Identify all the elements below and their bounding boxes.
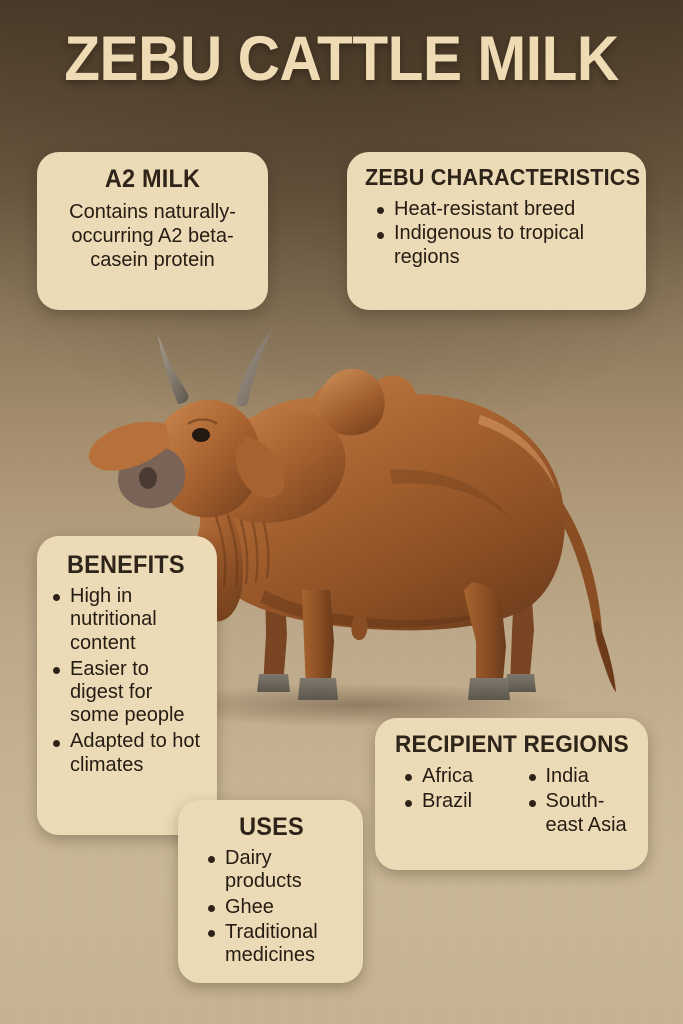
tail-tuft [594,620,616,692]
card-a2-milk-body: Contains naturally-occurring A2 beta-cas… [53,200,252,272]
card-benefits-list: High in nutritional content Easier to di… [51,585,205,777]
card-a2-milk: A2 MILK Contains naturally-occurring A2 … [37,152,268,310]
list-item: Traditional medicines [206,921,351,967]
hoof-hind-near [468,678,510,700]
list-item: India [527,765,637,788]
list-item: Easier to digest for some people [51,658,205,728]
card-recipient-regions-list-right: India South-east Asia [527,765,637,839]
page-title: ZEBU CATTLE MILK [24,28,659,91]
card-recipient-regions-title: RECIPIENT REGIONS [395,732,622,757]
eye [192,428,210,442]
card-zebu-characteristics-title: ZEBU CHARACTERISTICS [365,165,616,189]
list-item: Dairy products [206,847,351,893]
card-recipient-regions-list-left: Africa Brazil [403,765,513,839]
hoof-hind-far [505,674,536,692]
card-uses-list: Dairy products Ghee Traditional medicine… [206,847,351,967]
infographic-poster: A2 MILK Contains naturally-occurring A2 … [0,0,683,1024]
list-item: Ghee [206,896,351,919]
hoof-front-near [298,678,338,700]
list-item: Brazil [403,790,513,813]
card-zebu-characteristics-list: Heat-resistant breed Indigenous to tropi… [375,198,632,269]
card-zebu-characteristics: ZEBU CHARACTERISTICS Heat-resistant bree… [347,152,646,310]
card-recipient-regions-columns: Africa Brazil India South-east Asia [403,765,636,839]
card-a2-milk-title: A2 MILK [59,166,246,192]
list-item: Adapted to hot climates [51,730,205,776]
list-item: High in nutritional content [51,585,205,655]
list-item: Indigenous to tropical regions [375,222,632,268]
list-item: Africa [403,765,513,788]
horn-left [158,334,189,404]
card-uses: USES Dairy products Ghee Traditional med… [178,800,363,983]
hoof-front-far [257,674,290,692]
card-benefits: BENEFITS High in nutritional content Eas… [37,536,217,835]
card-recipient-regions: RECIPIENT REGIONS Africa Brazil India So… [375,718,648,870]
front-leg-near [302,590,334,692]
list-item: Heat-resistant breed [375,198,632,221]
list-item: South-east Asia [527,790,637,836]
card-benefits-title: BENEFITS [67,552,197,578]
nostril [139,467,157,489]
horn-right [236,330,272,407]
card-uses-title: USES [197,814,346,840]
